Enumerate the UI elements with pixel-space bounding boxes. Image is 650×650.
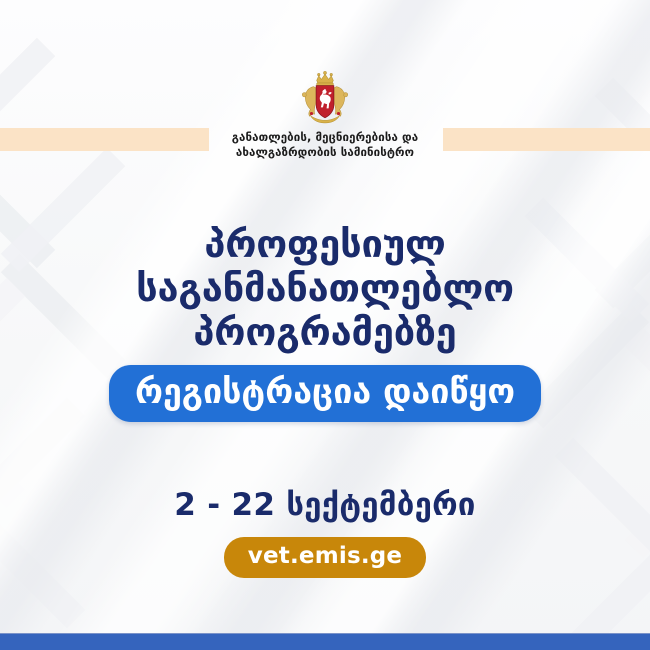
- poster-canvas: განათლების, მეცნიერებისა და ახალგაზრდობი…: [0, 0, 650, 650]
- ministry-lockup: განათლების, მეცნიერებისა და ახალგაზრდობი…: [0, 70, 650, 160]
- ministry-name: განათლების, მეცნიერებისა და ახალგაზრდობი…: [232, 130, 418, 160]
- website-url-badge[interactable]: vet.emis.ge: [224, 537, 426, 578]
- headline-line-1: პროფესიულ: [0, 222, 650, 266]
- registration-open-banner: რეგისტრაცია დაიწყო: [109, 365, 541, 422]
- georgia-coat-of-arms-icon: [299, 70, 351, 124]
- url-badge-wrap: vet.emis.ge: [0, 537, 650, 578]
- ministry-name-line2: ახალგაზრდობის სამინისტრო: [232, 145, 418, 160]
- headline-line-2: საგანმანათლებლო: [0, 266, 650, 310]
- date-range: 2 - 22 სექტემბერი: [0, 487, 650, 523]
- headline: პროფესიულ საგანმანათლებლო პროგრამებზე: [0, 222, 650, 354]
- bottom-accent-bar: [0, 633, 650, 650]
- headline-line-3: პროგრამებზე: [0, 310, 650, 354]
- ministry-name-line1: განათლების, მეცნიერებისა და: [232, 130, 418, 145]
- highlight-banner-wrap: რეგისტრაცია დაიწყო: [0, 365, 650, 422]
